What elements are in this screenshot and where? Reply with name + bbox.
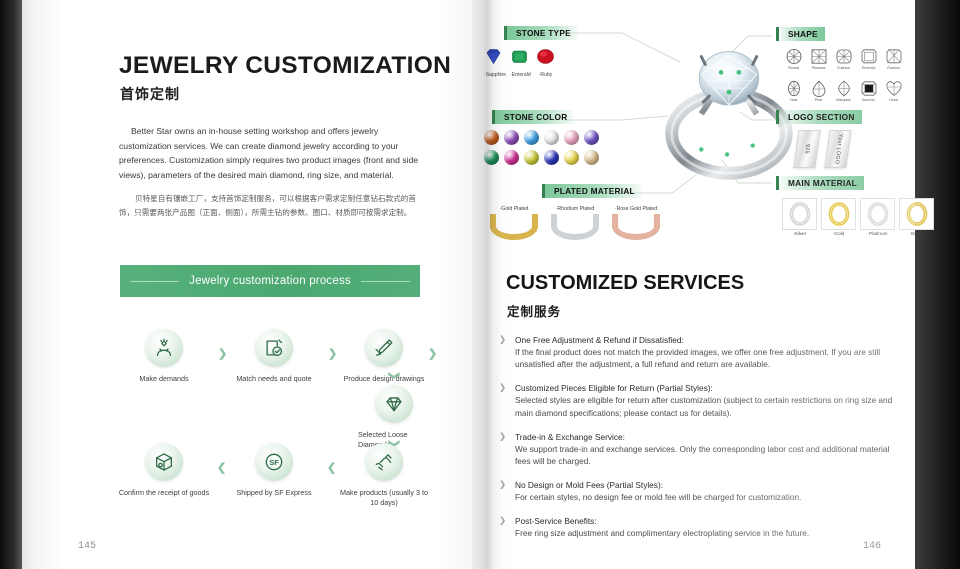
page-spread: JEWELRY CUSTOMIZATION 首饰定制 Better Star o… (22, 0, 915, 569)
chevron-right-icon: ❯ (499, 515, 506, 526)
stone-type-ruby: ·Ruby (536, 48, 555, 65)
round-shape-icon (782, 48, 805, 65)
chevron-down-icon-1: ❯ (388, 371, 401, 380)
process-step-shipping: SF Shipped by SF Express (228, 443, 320, 498)
tag-logo-section: LOGO SECTION (776, 110, 862, 124)
princess-shape-icon (807, 48, 830, 65)
material-swatch (899, 198, 934, 230)
chevron-right-icon-3: ❯ (428, 347, 437, 360)
service-body: For certain styles, no design fee or mol… (515, 491, 894, 503)
shape-label: Asscher (857, 98, 880, 102)
rhodium-plated-band (551, 214, 599, 240)
process-step-label: Shipped by SF Express (228, 488, 320, 498)
process-step-confirm-receipt: Confirm the receipt of goods (118, 443, 210, 498)
process-step-label: Make products (usually 3 to 10 days) (338, 488, 430, 507)
left-page: JEWELRY CUSTOMIZATION 首饰定制 Better Star o… (22, 0, 472, 569)
stone-color-swatch-1 (504, 130, 519, 145)
shape-cell-radiant: Radiant (882, 48, 905, 78)
right-gutter (915, 0, 960, 569)
shape-label: Oval (782, 98, 805, 102)
process-step-design-drawings: Produce design drawings (338, 329, 430, 384)
shape-grid: RoundPrincessCushionEmeraldRadiantOvalPe… (782, 48, 905, 110)
checklist-icon (255, 329, 293, 367)
chevron-right-icon: ❯ (499, 382, 506, 393)
shape-label: Round (782, 66, 805, 70)
tag-stone-type: STONE TYPE (504, 26, 578, 40)
plated-material-row: ·Gold Plated ·Rhodium Plated ·Rose Gold … (486, 206, 669, 240)
tag-main-material: MAIN MATERIAL (776, 176, 864, 190)
service-heading: Trade-in & Exchange Service: (515, 431, 894, 443)
plated-rose-gold: ·Rose Gold Plated (608, 206, 664, 240)
shape-label: Emerald (857, 66, 880, 70)
process-banner: Jewelry customization process (120, 265, 420, 297)
service-body: We support trade-in and exchange service… (515, 443, 894, 468)
service-heading: No Design or Mold Fees (Partial Styles): (515, 479, 894, 491)
process-step-make-demands: Make demands (118, 329, 210, 384)
intro-paragraph-chinese: 贝特星自有镶嵌工厂，支持首饰定制服务，可以根据客户需求定制任意钻石款式的首饰，只… (119, 192, 427, 220)
stone-color-swatch-5 (584, 130, 599, 145)
package-icon (145, 443, 183, 481)
process-step-label: Produce design drawings (338, 374, 430, 384)
banner-rule-right (361, 281, 410, 282)
services-title: CUSTOMIZED SERVICES (506, 272, 744, 295)
plated-gold: ·Gold Plated (486, 206, 542, 240)
chevron-right-icon: ❯ (499, 479, 506, 490)
diamond-icon (375, 385, 413, 423)
sf-express-icon: SF (255, 443, 293, 481)
chevron-left-icon-1: ❮ (327, 461, 336, 474)
chevron-right-icon-1: ❯ (218, 347, 227, 360)
material-swatch (821, 198, 856, 230)
stone-type-label: ·Emerald (510, 72, 529, 78)
stone-color-swatch-3 (544, 130, 559, 145)
asscher-shape-icon (857, 80, 880, 97)
stone-color-swatch-4 (564, 130, 579, 145)
logo-chip-custom: Your LOGO (824, 130, 851, 168)
stone-type-label: ·Sapphire (484, 72, 503, 78)
gold-plated-band (490, 214, 538, 240)
stone-color-swatch-7 (504, 150, 519, 165)
logo-chip-text: 925 (803, 144, 810, 154)
chevron-right-icon: ❯ (499, 431, 506, 442)
rose-gold-plated-band (612, 214, 660, 240)
shape-cell-round: Round (782, 48, 805, 78)
process-step-label: Match needs and quote (228, 374, 320, 384)
process-step-label: Confirm the receipt of goods (118, 488, 210, 498)
material-label: ·Brass (899, 232, 934, 237)
pear-shape-icon (807, 80, 830, 97)
process-banner-label: Jewelry customization process (189, 275, 351, 287)
service-body: Free ring size adjustment and compliment… (515, 527, 894, 539)
stone-type-sapphire: ·Sapphire (484, 48, 503, 65)
chevron-right-icon: ❯ (499, 334, 506, 345)
banner-rule-left (130, 281, 179, 282)
hand-diamond-icon (145, 329, 183, 367)
shape-cell-princess: Princess (807, 48, 830, 78)
page-title-chinese: 首饰定制 (120, 84, 180, 104)
shape-label: Cushion (832, 66, 855, 70)
stone-color-swatch-6 (484, 150, 499, 165)
stone-color-swatch-11 (584, 150, 599, 165)
radiant-shape-icon (882, 48, 905, 65)
shape-cell-heart: Heart (882, 80, 905, 110)
logo-section-row: 925 Your LOGO (796, 130, 849, 168)
process-step-make-products: Make products (usually 3 to 10 days) (338, 443, 430, 507)
main-material-silver: ·Silver (782, 198, 817, 237)
logo-chip-925: 925 (793, 130, 820, 168)
service-item-0: ❯One Free Adjustment & Refund if Dissati… (494, 334, 894, 371)
heart-shape-icon (882, 80, 905, 97)
shape-label: Pear (807, 98, 830, 102)
process-step-match-needs: Match needs and quote (228, 329, 320, 384)
plated-label: ·Gold Plated (486, 206, 542, 212)
service-item-4: ❯Post-Service Benefits:Free ring size ad… (494, 515, 894, 539)
services-list: ❯One Free Adjustment & Refund if Dissati… (494, 334, 894, 551)
tag-stone-color: STONE COLOR (492, 110, 574, 124)
stone-color-grid (484, 130, 601, 167)
marquise-shape-icon (832, 80, 855, 97)
main-material-brass: ·Brass (899, 198, 934, 237)
left-gutter (0, 0, 22, 569)
customization-options-diagram: STONE TYPE ·Sapphire ·Emerald ·Ruby (472, 0, 915, 262)
material-swatch (860, 198, 895, 230)
service-item-1: ❯Customized Pieces Eligible for Return (… (494, 382, 894, 419)
service-heading: Customized Pieces Eligible for Return (P… (515, 382, 894, 394)
page-number-right: 146 (863, 541, 881, 552)
material-label: ·Platinum (860, 232, 895, 237)
page-number-left: 145 (78, 541, 96, 552)
services-title-chinese: 定制服务 (507, 301, 561, 320)
shape-cell-cushion: Cushion (832, 48, 855, 78)
service-item-2: ❯Trade-in & Exchange Service:We support … (494, 431, 894, 468)
main-material-platinum: ·Platinum (860, 198, 895, 237)
stone-color-swatch-10 (564, 150, 579, 165)
shape-label: Radiant (882, 66, 905, 70)
process-flow-diagram: Make demands ❯ Match needs and quote ❯ (118, 325, 438, 515)
shape-label: Heart (882, 98, 905, 102)
plated-label: ·Rose Gold Plated (608, 206, 664, 212)
main-material-gold: ·Gold (821, 198, 856, 237)
chevron-right-icon-2: ❯ (328, 347, 337, 360)
main-material-row: ·Silver·Gold·Platinum·Brass (782, 198, 938, 237)
oval-shape-icon (782, 80, 805, 97)
logo-chip-text: Your LOGO (833, 134, 843, 165)
stone-color-swatch-8 (524, 150, 539, 165)
stone-type-label: ·Ruby (536, 72, 555, 78)
shape-label: Marquise (832, 98, 855, 102)
material-label: ·Gold (821, 232, 856, 237)
stone-color-swatch-0 (484, 130, 499, 145)
handcraft-icon (365, 443, 403, 481)
shape-cell-oval: Oval (782, 80, 805, 110)
intro-paragraph-english: Better Star owns an in-house setting wor… (119, 124, 427, 182)
stone-color-swatch-9 (544, 150, 559, 165)
cushion-shape-icon (832, 48, 855, 65)
material-label: ·Silver (782, 232, 817, 237)
pencil-ruler-icon (365, 329, 403, 367)
right-page: STONE TYPE ·Sapphire ·Emerald ·Ruby (472, 0, 915, 569)
svg-text:SF: SF (269, 458, 279, 467)
stone-type-emerald: ·Emerald (510, 48, 529, 65)
service-item-3: ❯No Design or Mold Fees (Partial Styles)… (494, 479, 894, 503)
service-body: Selected styles are eligible for return … (515, 394, 894, 419)
tag-shape: SHAPE (776, 27, 825, 41)
tag-plated-material: PLATED MATERIAL (542, 184, 642, 198)
shape-cell-asscher: Asscher (857, 80, 880, 110)
shape-cell-pear: Pear (807, 80, 830, 110)
stone-color-swatch-2 (524, 130, 539, 145)
shape-cell-marquise: Marquise (832, 80, 855, 110)
shape-cell-emerald: Emerald (857, 48, 880, 78)
plated-rhodium: ·Rhodium Plated (547, 206, 603, 240)
service-heading: One Free Adjustment & Refund if Dissatis… (515, 334, 894, 346)
plated-label: ·Rhodium Plated (547, 206, 603, 212)
catalog-page-viewer: JEWELRY CUSTOMIZATION 首饰定制 Better Star o… (0, 0, 960, 569)
material-swatch (782, 198, 817, 230)
process-step-label: Make demands (118, 374, 210, 384)
service-body: If the final product does not match the … (515, 346, 894, 371)
chevron-left-icon-2: ❮ (217, 461, 226, 474)
stone-type-swatches: ·Sapphire ·Emerald ·Ruby (484, 48, 562, 65)
service-heading: Post-Service Benefits: (515, 515, 894, 527)
shape-label: Princess (807, 66, 830, 70)
emerald-shape-icon (857, 48, 880, 65)
page-title: JEWELRY CUSTOMIZATION (119, 52, 451, 80)
